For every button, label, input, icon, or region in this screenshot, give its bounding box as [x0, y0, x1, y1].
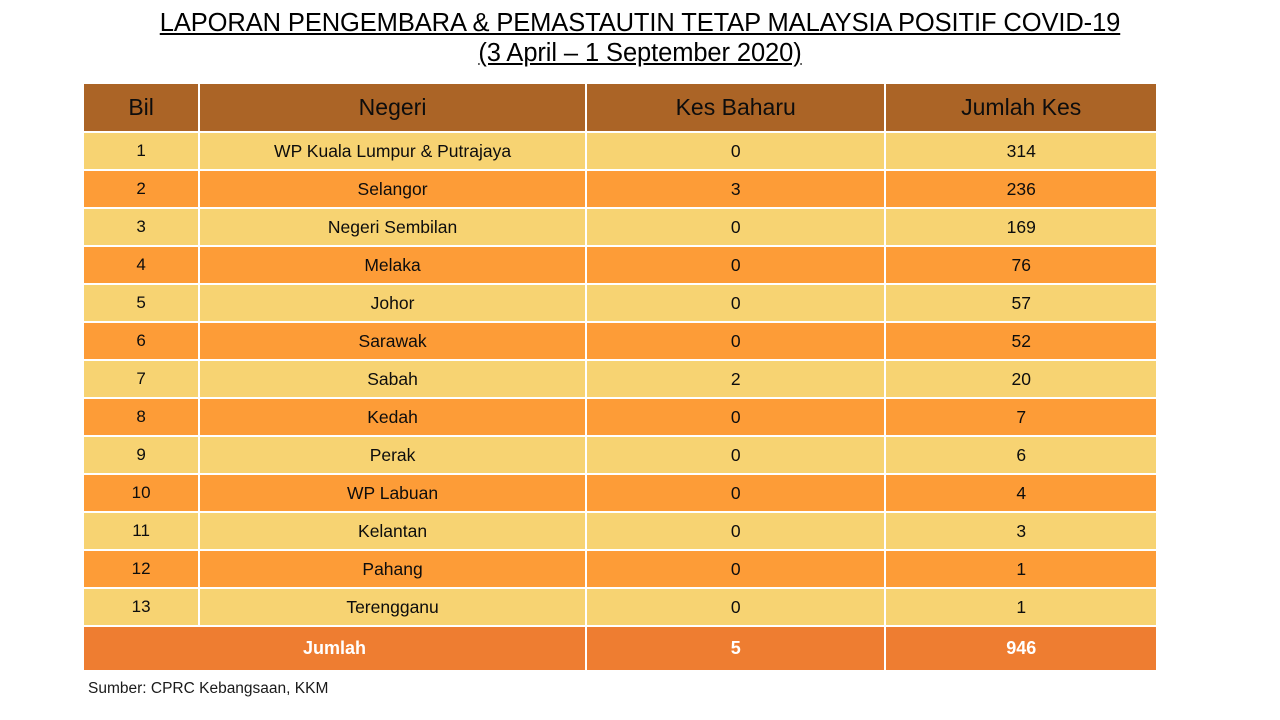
- cell-kes-baharu: 0: [587, 323, 885, 359]
- table-row: 11 Kelantan 0 3: [84, 513, 1156, 549]
- cell-kes-baharu: 0: [587, 475, 885, 511]
- page-title-line-2-text: (3 April – 1 September 2020): [478, 39, 801, 67]
- table-row: 6 Sarawak 0 52: [84, 323, 1156, 359]
- cell-negeri: Perak: [200, 437, 585, 473]
- covid-cases-table-container: Bil Negeri Kes Baharu Jumlah Kes 1 WP Ku…: [82, 82, 1158, 672]
- total-kes-baharu: 5: [587, 627, 885, 670]
- cell-kes-baharu: 0: [587, 285, 885, 321]
- column-header-kes-baharu: Kes Baharu: [587, 84, 885, 131]
- page-title: LAPORAN PENGEMBARA & PEMASTAUTIN TETAP M…: [0, 8, 1280, 68]
- cell-kes-baharu: 0: [587, 209, 885, 245]
- cell-negeri: Sabah: [200, 361, 585, 397]
- cell-bil: 8: [84, 399, 198, 435]
- table-row: 9 Perak 0 6: [84, 437, 1156, 473]
- table-row: 4 Melaka 0 76: [84, 247, 1156, 283]
- cell-bil: 12: [84, 551, 198, 587]
- page-title-line-2: (3 April – 1 September 2020): [0, 38, 1280, 68]
- cell-kes-baharu: 0: [587, 589, 885, 625]
- table-total-row: Jumlah 5 946: [84, 627, 1156, 670]
- cell-negeri: Johor: [200, 285, 585, 321]
- source-note: Sumber: CPRC Kebangsaan, KKM: [88, 680, 328, 698]
- cell-kes-baharu: 0: [587, 437, 885, 473]
- cell-negeri: WP Kuala Lumpur & Putrajaya: [200, 133, 585, 169]
- covid-cases-table: Bil Negeri Kes Baharu Jumlah Kes 1 WP Ku…: [82, 82, 1158, 672]
- table-header-row: Bil Negeri Kes Baharu Jumlah Kes: [84, 84, 1156, 131]
- table-row: 2 Selangor 3 236: [84, 171, 1156, 207]
- cell-negeri: Terengganu: [200, 589, 585, 625]
- cell-jumlah-kes: 76: [886, 247, 1156, 283]
- table-body: 1 WP Kuala Lumpur & Putrajaya 0 314 2 Se…: [84, 133, 1156, 670]
- table-row: 12 Pahang 0 1: [84, 551, 1156, 587]
- cell-kes-baharu: 2: [587, 361, 885, 397]
- cell-kes-baharu: 0: [587, 247, 885, 283]
- page-title-line-1-text: LAPORAN PENGEMBARA & PEMASTAUTIN TETAP M…: [160, 9, 1120, 37]
- cell-bil: 10: [84, 475, 198, 511]
- cell-jumlah-kes: 52: [886, 323, 1156, 359]
- cell-jumlah-kes: 7: [886, 399, 1156, 435]
- cell-bil: 5: [84, 285, 198, 321]
- cell-negeri: Sarawak: [200, 323, 585, 359]
- cell-kes-baharu: 0: [587, 133, 885, 169]
- cell-jumlah-kes: 57: [886, 285, 1156, 321]
- cell-kes-baharu: 0: [587, 513, 885, 549]
- cell-kes-baharu: 0: [587, 551, 885, 587]
- cell-bil: 6: [84, 323, 198, 359]
- cell-kes-baharu: 3: [587, 171, 885, 207]
- cell-negeri: Kelantan: [200, 513, 585, 549]
- total-jumlah-kes: 946: [886, 627, 1156, 670]
- table-row: 3 Negeri Sembilan 0 169: [84, 209, 1156, 245]
- cell-negeri: Melaka: [200, 247, 585, 283]
- cell-bil: 13: [84, 589, 198, 625]
- table-header: Bil Negeri Kes Baharu Jumlah Kes: [84, 84, 1156, 131]
- cell-jumlah-kes: 1: [886, 551, 1156, 587]
- cell-jumlah-kes: 3: [886, 513, 1156, 549]
- cell-bil: 3: [84, 209, 198, 245]
- total-label: Jumlah: [84, 627, 585, 670]
- table-row: 5 Johor 0 57: [84, 285, 1156, 321]
- cell-bil: 11: [84, 513, 198, 549]
- cell-jumlah-kes: 169: [886, 209, 1156, 245]
- column-header-bil: Bil: [84, 84, 198, 131]
- cell-jumlah-kes: 4: [886, 475, 1156, 511]
- cell-negeri: Pahang: [200, 551, 585, 587]
- cell-jumlah-kes: 314: [886, 133, 1156, 169]
- cell-jumlah-kes: 20: [886, 361, 1156, 397]
- cell-bil: 9: [84, 437, 198, 473]
- cell-negeri: Negeri Sembilan: [200, 209, 585, 245]
- cell-bil: 4: [84, 247, 198, 283]
- table-row: 1 WP Kuala Lumpur & Putrajaya 0 314: [84, 133, 1156, 169]
- cell-negeri: Kedah: [200, 399, 585, 435]
- table-row: 10 WP Labuan 0 4: [84, 475, 1156, 511]
- cell-jumlah-kes: 1: [886, 589, 1156, 625]
- cell-jumlah-kes: 236: [886, 171, 1156, 207]
- page-title-line-1: LAPORAN PENGEMBARA & PEMASTAUTIN TETAP M…: [0, 8, 1280, 38]
- column-header-jumlah-kes: Jumlah Kes: [886, 84, 1156, 131]
- cell-jumlah-kes: 6: [886, 437, 1156, 473]
- cell-negeri: WP Labuan: [200, 475, 585, 511]
- table-row: 13 Terengganu 0 1: [84, 589, 1156, 625]
- cell-negeri: Selangor: [200, 171, 585, 207]
- cell-bil: 7: [84, 361, 198, 397]
- column-header-negeri: Negeri: [200, 84, 585, 131]
- table-row: 8 Kedah 0 7: [84, 399, 1156, 435]
- table-row: 7 Sabah 2 20: [84, 361, 1156, 397]
- cell-bil: 2: [84, 171, 198, 207]
- cell-bil: 1: [84, 133, 198, 169]
- cell-kes-baharu: 0: [587, 399, 885, 435]
